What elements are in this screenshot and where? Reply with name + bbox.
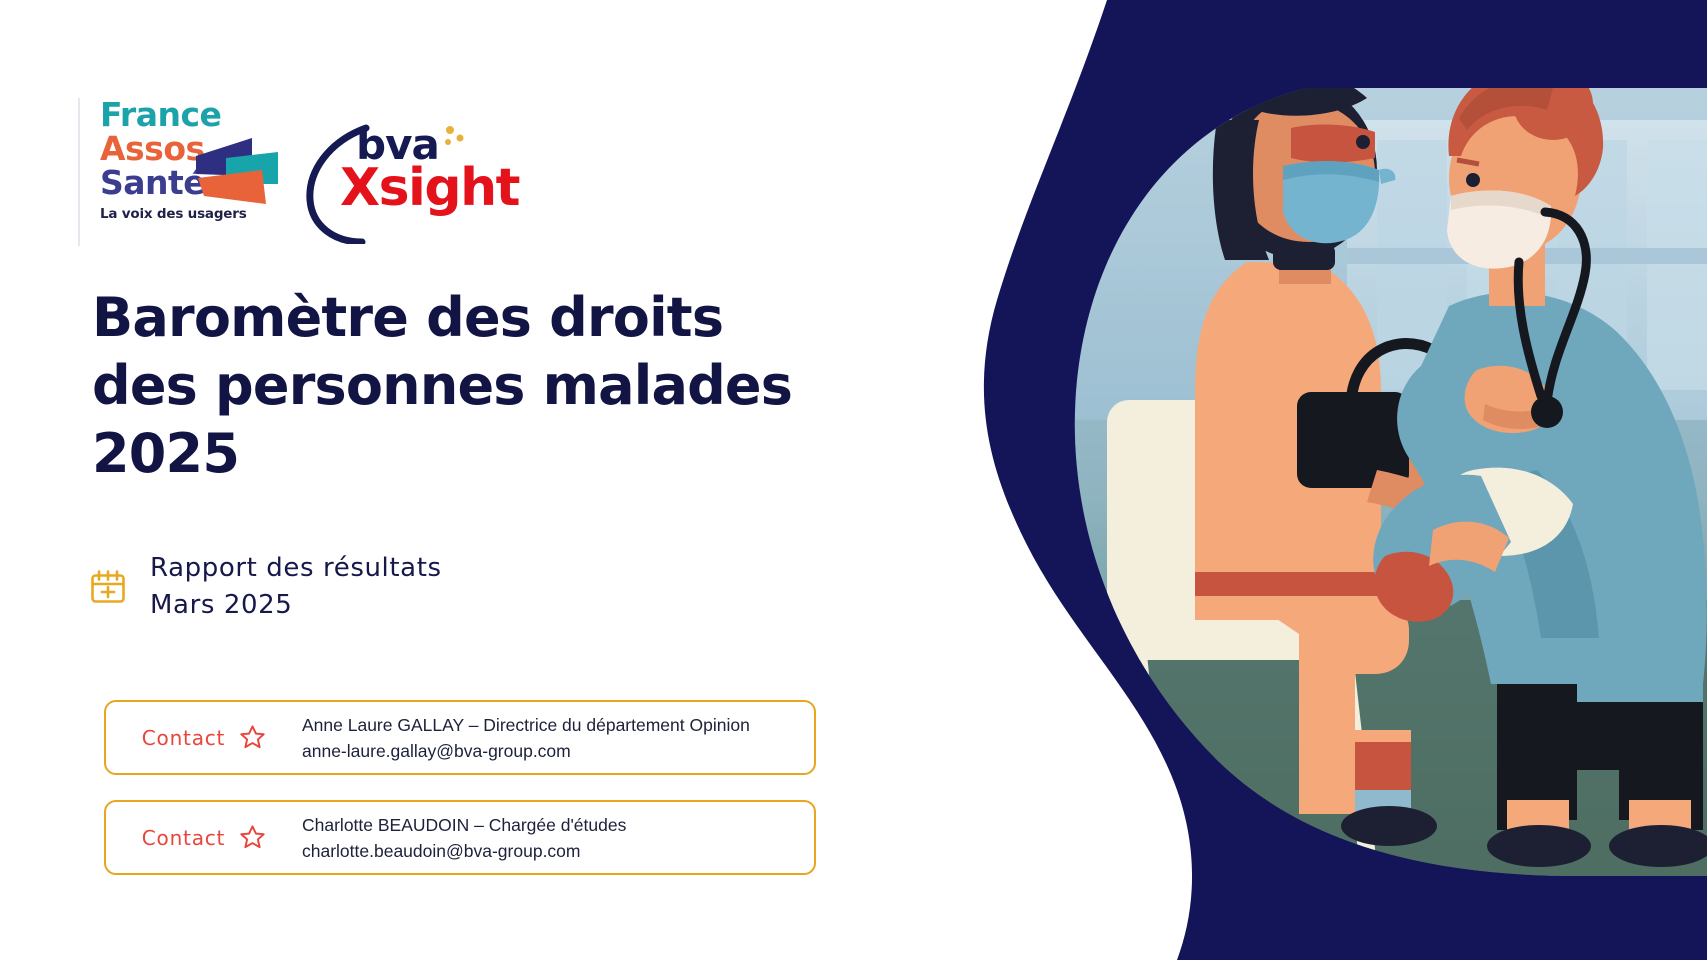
page-title: Baromètre des droits des personnes malad… — [92, 284, 852, 488]
contact-email[interactable]: charlotte.beaudoin@bva-group.com — [302, 838, 626, 864]
logo-line-france: France — [100, 98, 270, 132]
fas-banner-mark-icon — [192, 134, 282, 210]
contact-card[interactable]: Contact Charlotte BEAUDOIN – Chargée d'é… — [104, 800, 816, 875]
title-line-2: des personnes malades — [92, 352, 852, 420]
star-icon — [239, 724, 266, 751]
contact-label-group: Contact — [106, 824, 302, 851]
contact-name-role: Anne Laure GALLAY – Directrice du départ… — [302, 712, 750, 738]
subtitle-block: Rapport des résultats Mars 2025 — [88, 550, 442, 624]
stethoscope-chestpiece — [1531, 396, 1563, 428]
contact-email[interactable]: anne-laure.gallay@bva-group.com — [302, 738, 750, 764]
title-line-1: Baromètre des droits — [92, 284, 852, 352]
contact-details: Charlotte BEAUDOIN – Chargée d'études ch… — [302, 812, 626, 864]
xsight-wordmark: Xsight — [340, 158, 519, 218]
cover-slide: France Assos Santé La voix des usagers b… — [0, 0, 1707, 960]
medical-consultation-illustration — [877, 0, 1707, 960]
star-icon — [239, 824, 266, 851]
subtitle-line-1: Rapport des résultats — [150, 550, 442, 587]
subtitle-line-2: Mars 2025 — [150, 587, 442, 624]
logo-row: France Assos Santé La voix des usagers b… — [78, 98, 494, 246]
contact-details: Anne Laure GALLAY – Directrice du départ… — [302, 712, 750, 764]
contact-card[interactable]: Contact Anne Laure GALLAY – Directrice d… — [104, 700, 816, 775]
artwork-panel — [877, 0, 1707, 960]
contact-name-role: Charlotte BEAUDOIN – Chargée d'études — [302, 812, 626, 838]
calendar-icon — [88, 567, 128, 607]
contact-label-group: Contact — [106, 724, 302, 751]
bva-xsight-logo: bva Xsight — [304, 114, 494, 244]
contact-label: Contact — [142, 726, 225, 750]
france-assos-sante-logo: France Assos Santé La voix des usagers — [78, 98, 270, 246]
contact-label: Contact — [142, 826, 225, 850]
title-line-3: 2025 — [92, 420, 852, 488]
subtitle-text: Rapport des résultats Mars 2025 — [150, 550, 442, 624]
